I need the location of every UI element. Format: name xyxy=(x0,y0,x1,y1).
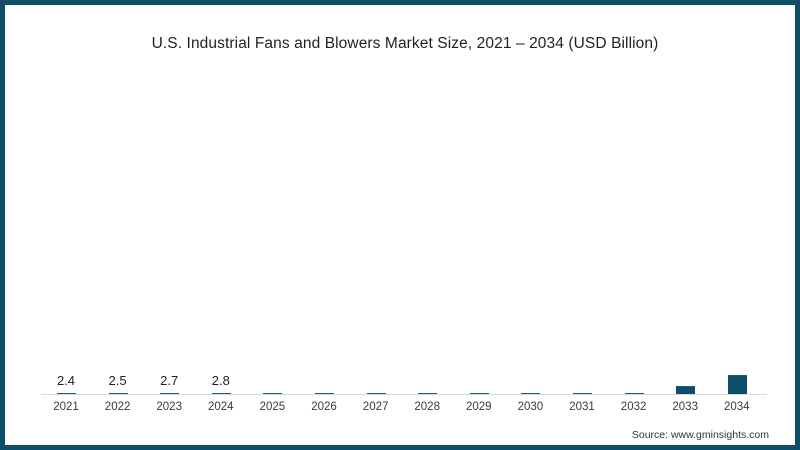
bar-value-label: 2.5 xyxy=(92,373,144,388)
bar-group: 2034 xyxy=(711,5,763,450)
bar-group: 2025 xyxy=(246,5,298,450)
x-axis-tick-label: 2027 xyxy=(350,401,402,413)
bar-value-label: 2.4 xyxy=(40,373,92,388)
bar-group: 2030 xyxy=(504,5,556,450)
bar[interactable] xyxy=(625,393,644,394)
bar[interactable] xyxy=(728,375,747,394)
x-axis-tick-label: 2031 xyxy=(556,401,608,413)
plot-area: 2.420212.520222.720232.82024202520262027… xyxy=(5,5,800,450)
x-axis-tick-label: 2022 xyxy=(92,401,144,413)
bar[interactable] xyxy=(315,393,334,394)
bar[interactable] xyxy=(109,393,128,394)
bar[interactable] xyxy=(367,393,386,394)
bar[interactable] xyxy=(676,386,695,394)
bar-value-label: 2.7 xyxy=(143,373,195,388)
x-axis-tick-label: 2023 xyxy=(143,401,195,413)
bar-group: 2026 xyxy=(298,5,350,450)
chart-container: U.S. Industrial Fans and Blowers Market … xyxy=(0,0,800,450)
bar-group: 2.82024 xyxy=(195,5,247,450)
x-axis-tick-label: 2026 xyxy=(298,401,350,413)
source-attribution: Source: www.gminsights.com xyxy=(632,429,769,441)
bar-value-label: 2.8 xyxy=(195,373,247,388)
bar-group: 2031 xyxy=(556,5,608,450)
bar[interactable] xyxy=(418,393,437,394)
bar-group: 2033 xyxy=(659,5,711,450)
bar[interactable] xyxy=(212,393,231,394)
bar[interactable] xyxy=(470,393,489,394)
bar[interactable] xyxy=(573,393,592,394)
x-axis-tick-label: 2029 xyxy=(453,401,505,413)
x-axis-tick-label: 2024 xyxy=(195,401,247,413)
bar-group: 2029 xyxy=(453,5,505,450)
x-axis-tick-label: 2032 xyxy=(608,401,660,413)
x-axis-tick-label: 2021 xyxy=(40,401,92,413)
x-axis-tick-label: 2028 xyxy=(401,401,453,413)
bar-group: 2028 xyxy=(401,5,453,450)
bar-group: 2027 xyxy=(350,5,402,450)
x-axis-tick-label: 2033 xyxy=(659,401,711,413)
bar[interactable] xyxy=(57,393,76,394)
bar-group: 2.72023 xyxy=(143,5,195,450)
x-axis-tick-label: 2034 xyxy=(711,401,763,413)
bar[interactable] xyxy=(263,393,282,394)
bar-group: 2032 xyxy=(608,5,660,450)
x-axis-tick-label: 2025 xyxy=(246,401,298,413)
bar-group: 2.42021 xyxy=(40,5,92,450)
bar[interactable] xyxy=(521,393,540,394)
bar-group: 2.52022 xyxy=(92,5,144,450)
bar[interactable] xyxy=(160,393,179,394)
x-axis-tick-label: 2030 xyxy=(504,401,556,413)
